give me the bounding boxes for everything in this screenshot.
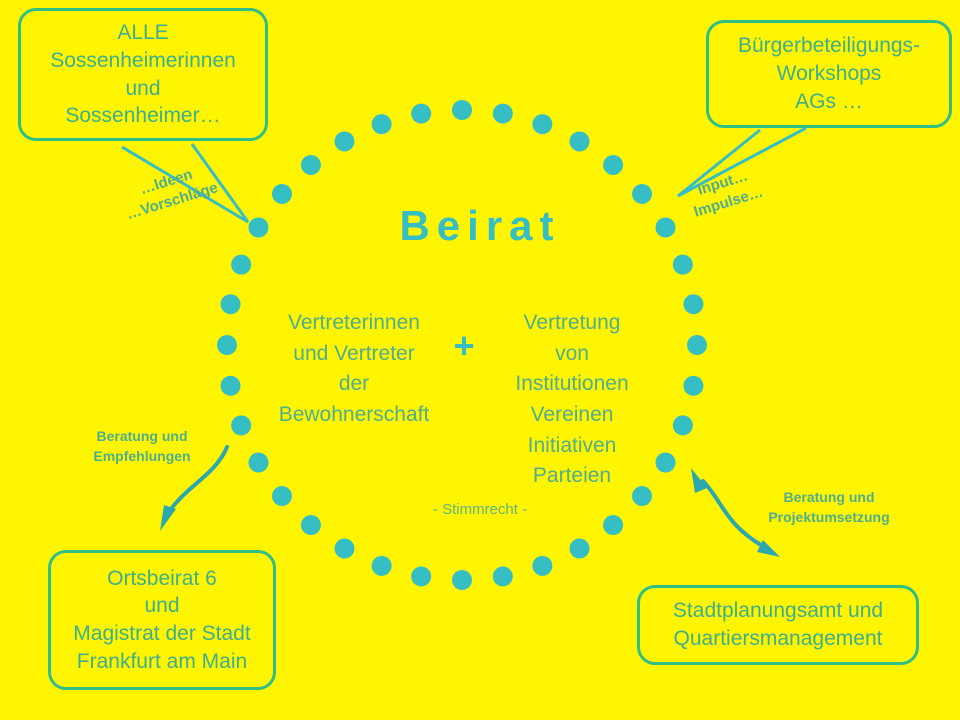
ring-dot — [603, 155, 623, 175]
ring-dot — [335, 131, 355, 151]
caption-beratung-projektumsetzung: Beratung und Projektumsetzung — [744, 487, 914, 528]
ring-dot — [493, 566, 513, 586]
column-bewohnerschaft: Vertreterinnen und Vertreter der Bewohne… — [266, 308, 442, 431]
ring-dot — [372, 114, 392, 134]
speech-bubble-workshops[interactable]: Bürgerbeteiligungs- Workshops AGs … — [706, 20, 952, 128]
ring-dot — [532, 556, 552, 576]
page-title: Beirat — [0, 202, 960, 250]
ring-dot — [372, 556, 392, 576]
box-stadtplanung[interactable]: Stadtplanungsamt und Quartiersmanagement — [637, 585, 919, 665]
ring-dot — [301, 515, 321, 535]
speech-bubble-residents[interactable]: ALLE Sossenheimerinnen und Sossenheimer… — [18, 8, 268, 141]
ring-dot — [411, 104, 431, 124]
ring-dot — [532, 114, 552, 134]
ring-dot — [683, 376, 703, 396]
speech-bubble-workshops-text: Bürgerbeteiligungs- Workshops AGs … — [728, 28, 930, 119]
ring-dot — [673, 255, 693, 275]
diagram-canvas: ALLE Sossenheimerinnen und Sossenheimer…… — [0, 0, 960, 720]
ring-dot — [248, 453, 268, 473]
box-ortsbeirat-text: Ortsbeirat 6 und Magistrat der Stadt Fra… — [63, 561, 260, 680]
ring-dot — [301, 155, 321, 175]
speech-bubble-residents-text: ALLE Sossenheimerinnen und Sossenheimer… — [40, 15, 246, 134]
ring-dot — [231, 255, 251, 275]
ring-dot — [272, 184, 292, 204]
ring-dot — [673, 415, 693, 435]
ring-dot — [493, 104, 513, 124]
plus-icon: + — [446, 325, 482, 367]
ring-dot — [683, 294, 703, 314]
ring-dot — [231, 415, 251, 435]
ring-dot — [570, 131, 590, 151]
column-institutionen: Vertretung von Institutionen Vereinen In… — [484, 308, 660, 492]
arrow-head-down-right — [757, 540, 780, 557]
ring-dot — [570, 539, 590, 559]
ring-dot — [452, 570, 472, 590]
ring-dot — [335, 539, 355, 559]
ring-dot — [603, 515, 623, 535]
ring-dot — [217, 335, 237, 355]
ring-dot — [221, 294, 241, 314]
ring-dot — [221, 376, 241, 396]
ring-dot — [632, 184, 652, 204]
ring-dot — [411, 566, 431, 586]
caption-beratung-empfehlungen: Beratung und Empfehlungen — [72, 426, 212, 467]
arrow-head-up-left — [691, 468, 707, 493]
ring-dot — [687, 335, 707, 355]
box-stadtplanung-text: Stadtplanungsamt und Quartiersmanagement — [663, 593, 893, 656]
box-ortsbeirat[interactable]: Ortsbeirat 6 und Magistrat der Stadt Fra… — [48, 550, 276, 690]
ring-dot — [452, 100, 472, 120]
